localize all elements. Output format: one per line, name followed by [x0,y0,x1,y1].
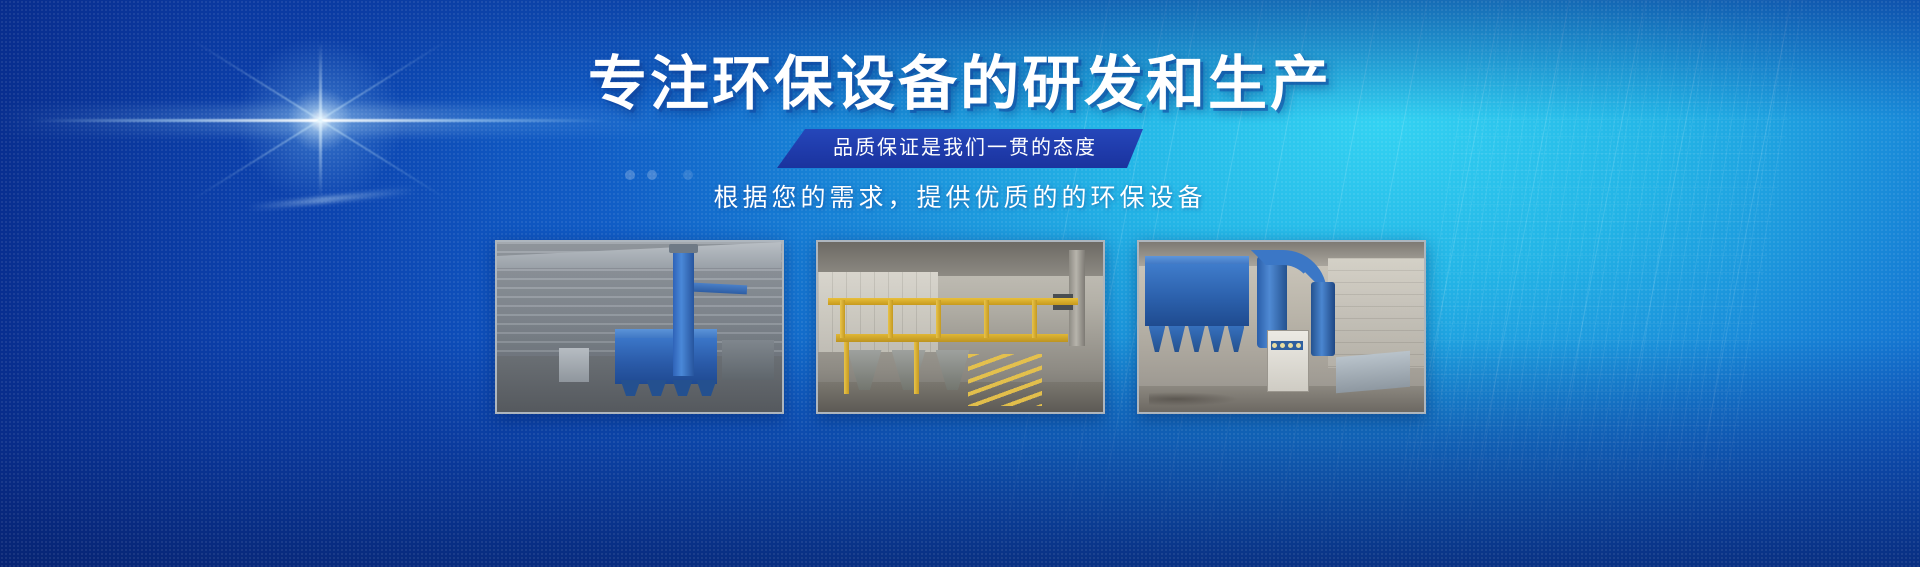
photo-1-image [497,242,782,412]
photo-cyclone-ducting-cabinet[interactable] [1137,240,1426,414]
banner-content: 专注环保设备的研发和生产 品质保证是我们一贯的态度 根据您的需求，提供优质的的环… [0,0,1920,567]
photo-indoor-plant-platform[interactable] [816,240,1105,414]
photo-3-image [1139,242,1424,412]
quality-badge: 品质保证是我们一贯的态度 [777,129,1143,168]
photo-workshop-dust-collector[interactable] [495,240,784,414]
badge-container: 品质保证是我们一贯的态度 [0,129,1920,168]
banner-subtitle: 根据您的需求，提供优质的的环保设备 [0,178,1920,214]
photo-2-image [818,242,1103,412]
banner-headline: 专注环保设备的研发和生产 [0,54,1920,116]
photo-strip [0,240,1920,414]
promo-banner: 专注环保设备的研发和生产 品质保证是我们一贯的态度 根据您的需求，提供优质的的环… [0,0,1920,567]
